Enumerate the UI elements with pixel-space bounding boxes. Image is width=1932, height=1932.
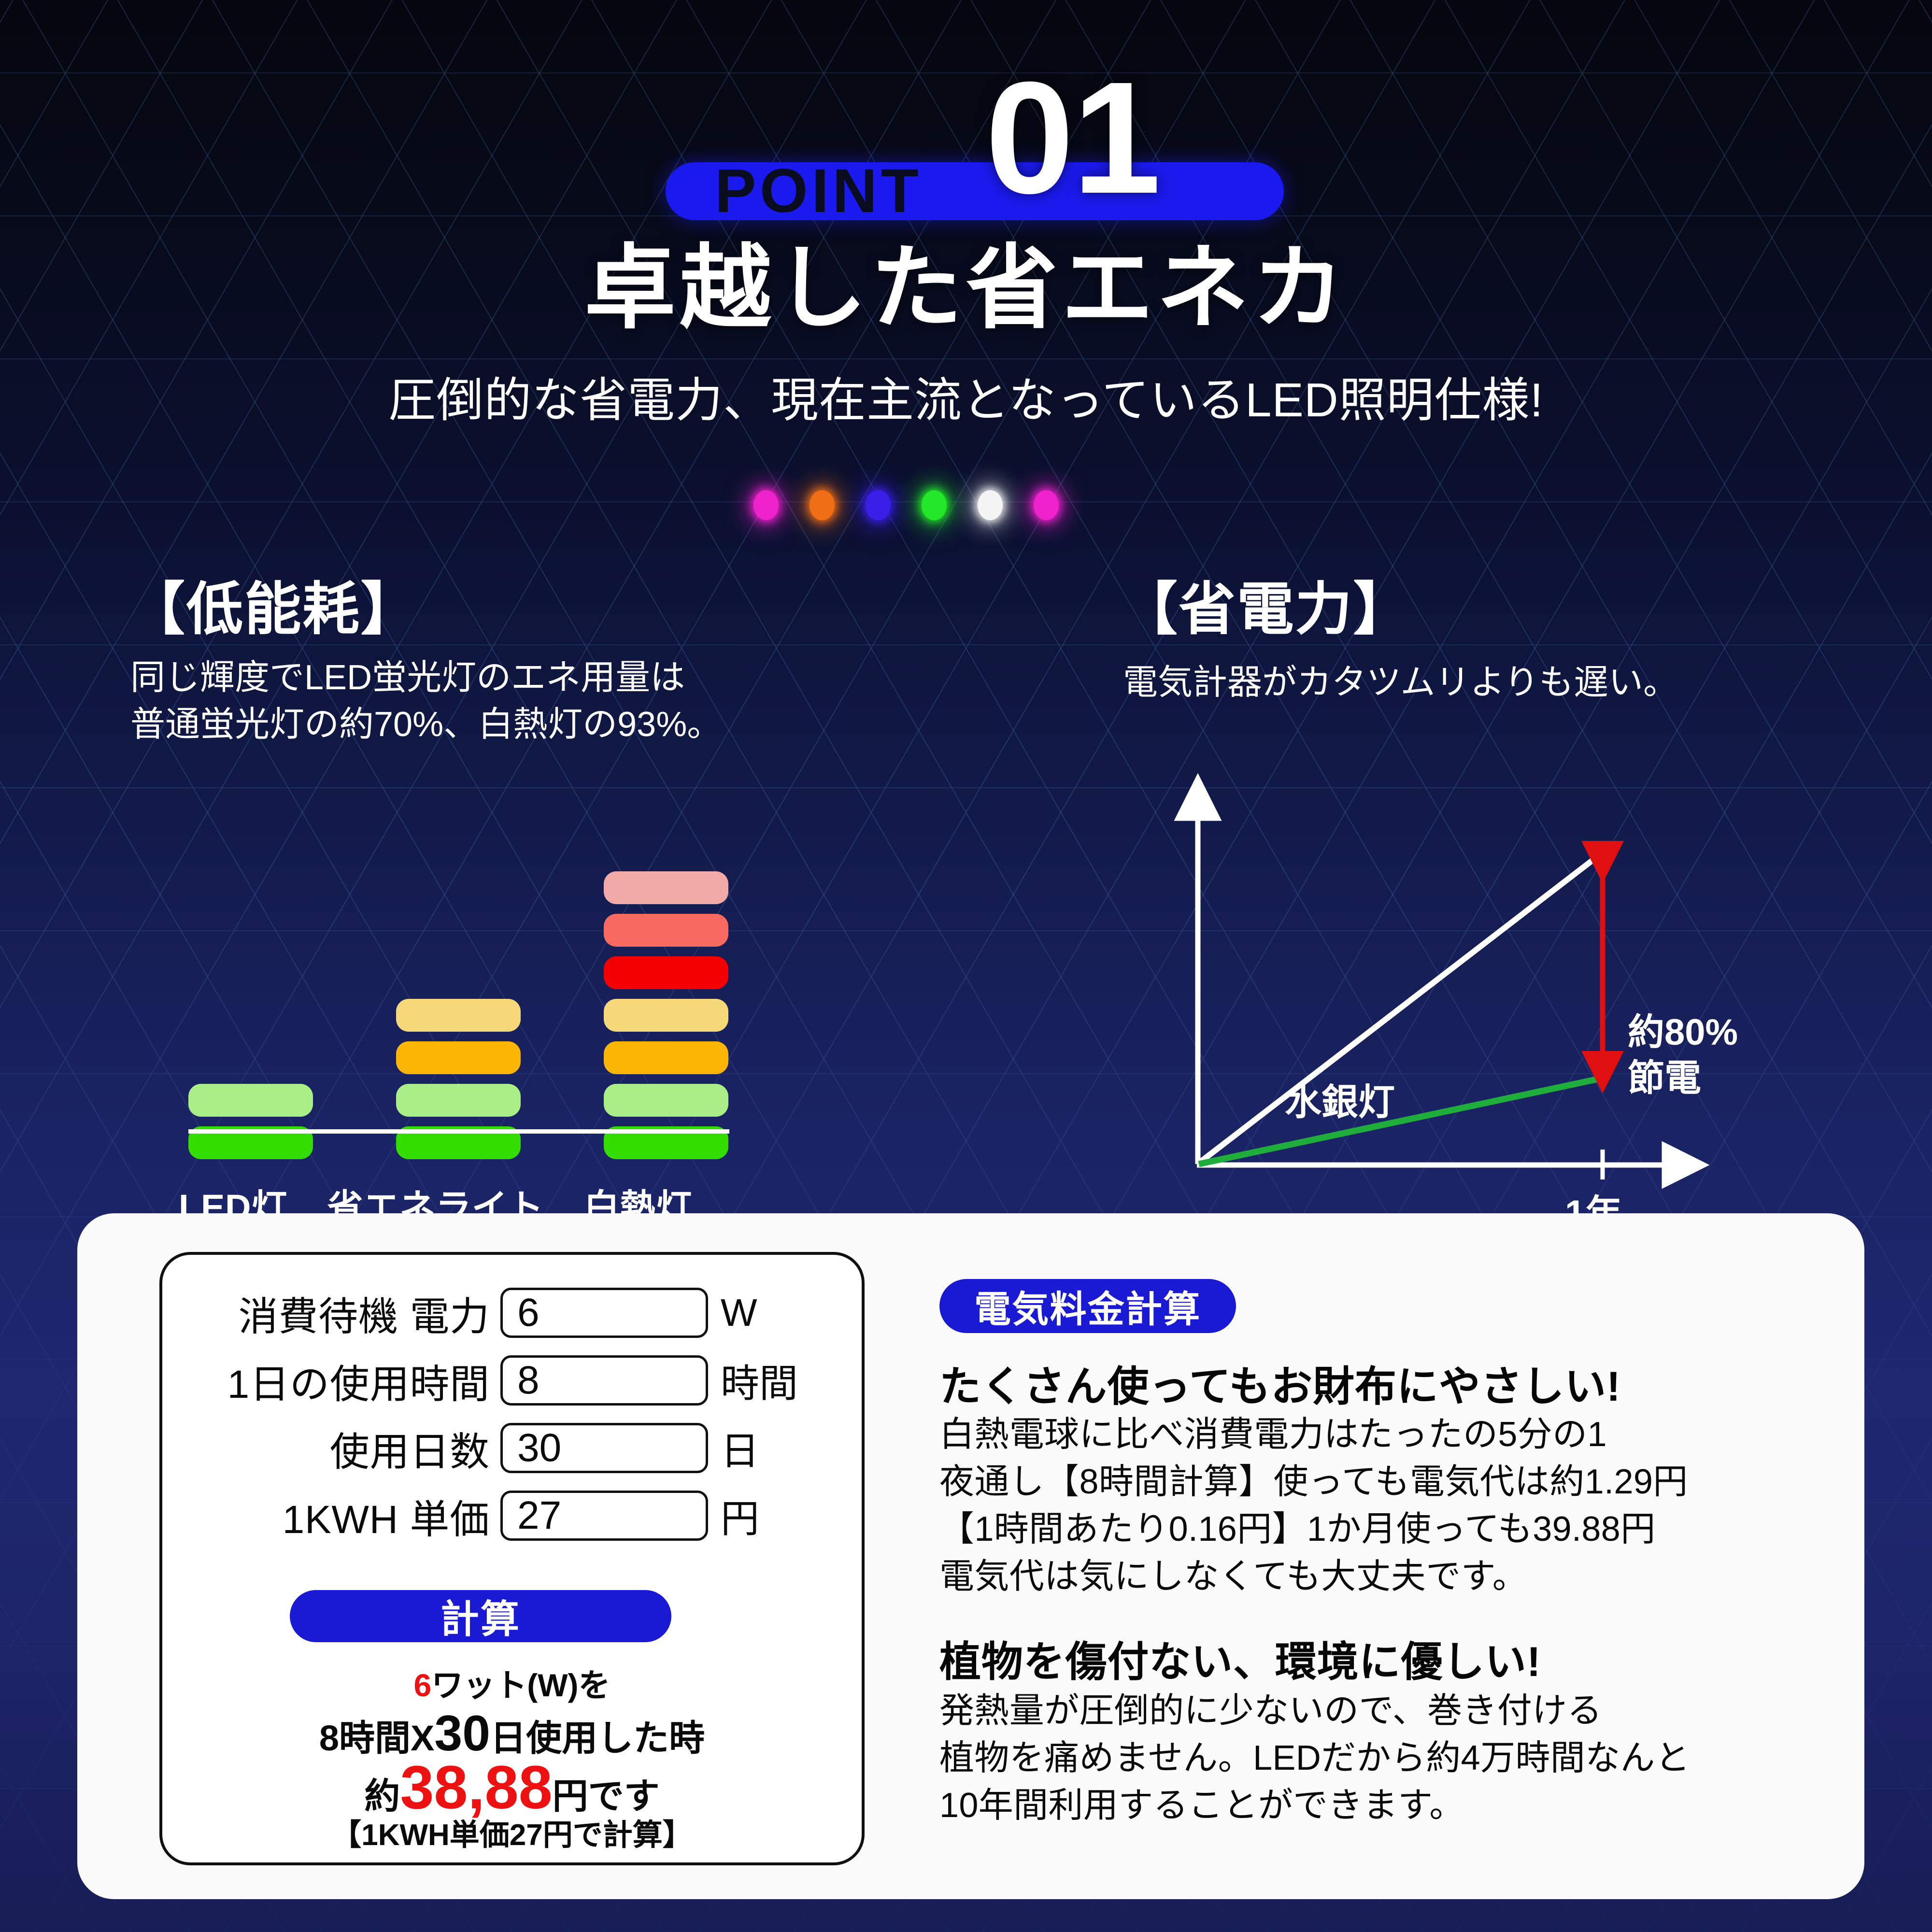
calculator-row-label: 使用日数 — [162, 1420, 500, 1477]
calculator-input-2[interactable]: 30 — [500, 1423, 708, 1473]
calculator-row-label: 消費待機 電力 — [162, 1284, 500, 1342]
bar-chart-baseline — [188, 1129, 729, 1134]
page-title: 卓越した省エネカ — [0, 241, 1932, 337]
led-dot-green — [922, 490, 947, 520]
calculator-row-unit: 日 — [708, 1420, 759, 1476]
info-panel-badge: 電気料金計算 — [939, 1279, 1236, 1333]
calculator-row-label: 1KWH 単価 — [162, 1487, 500, 1545]
led-dot-magenta — [753, 490, 779, 520]
result-watts-value: 6 — [414, 1667, 432, 1703]
info-body-1-line-2: 夜通し【8時間計算】使っても電気代は約1.29円 — [939, 1458, 1688, 1506]
info-body-2-line-1: 発熱量が圧倒的に少ないので、巻き付ける — [939, 1687, 1602, 1735]
left-section-heading: 【低能耗】 — [128, 563, 419, 645]
bar-segment — [604, 914, 728, 947]
calculate-button[interactable]: 計算 — [290, 1590, 671, 1642]
result-line-4-note: 【1KWH単価27円で計算】 — [159, 1810, 865, 1854]
info-heading-2: 植物を傷付ない、環境に優しい! — [939, 1628, 1541, 1688]
led-dot-orange — [810, 490, 835, 520]
calculator-row-label: 1日の使用時間 — [162, 1352, 500, 1409]
calculator-input-1[interactable]: 8 — [500, 1355, 708, 1406]
right-section-body-line1: 電気計器がカタツムリよりも遅い。 — [1123, 659, 1678, 706]
info-body-2-line-2: 植物を痛めません。LEDだから約4万時間なんと — [939, 1734, 1690, 1783]
calculator-row-2: 使用日数30日 — [162, 1419, 867, 1477]
bar-segment — [396, 1041, 521, 1074]
calculator-row-unit: 時間 — [708, 1352, 798, 1408]
bar-segment — [396, 1084, 521, 1117]
left-section-body-line1: 同じ輝度でLED蛍光灯のエネ用量は — [130, 654, 685, 701]
bar-column-1 — [396, 999, 521, 1159]
mercury-lamp-label: 水銀灯 — [1285, 1072, 1395, 1125]
bar-segment — [604, 1084, 728, 1117]
calculator-input-0[interactable]: 6 — [500, 1288, 708, 1338]
result-line-1: 6ワット(W)を — [159, 1660, 865, 1706]
info-body-1-line-1: 白熱電球に比べ消費電力はたったの5分の1 — [939, 1410, 1607, 1459]
info-body-1-line-4: 電気代は気にしなくても大丈夫です。 — [939, 1552, 1527, 1601]
led-dot-white — [978, 490, 1003, 520]
calculator-row-unit: 円 — [708, 1488, 759, 1544]
energy-bar-chart — [188, 782, 729, 1159]
led-dot-magenta2 — [1034, 490, 1059, 520]
savings-percent-label: 約80% — [1628, 1002, 1738, 1055]
bar-segment — [396, 999, 521, 1032]
led-lamp-line — [1199, 1078, 1603, 1164]
bar-segment — [188, 1084, 313, 1117]
calculator-row-unit: W — [708, 1291, 757, 1335]
bar-segment — [604, 1041, 728, 1074]
result-watts-suffix: ワット(W)を — [431, 1667, 610, 1703]
info-heading-1: たくさん使ってもお財布にやさしい! — [939, 1352, 1621, 1413]
right-section-heading: 【省電力】 — [1121, 563, 1411, 645]
calculator-row-3: 1KWH 単価27円 — [162, 1487, 867, 1545]
bar-segment — [604, 871, 728, 904]
savings-word-label: 節電 — [1628, 1048, 1701, 1101]
line-chart-svg — [1140, 763, 1855, 1217]
led-color-dots — [753, 490, 1059, 520]
bar-segment — [604, 956, 728, 989]
bar-segment — [604, 999, 728, 1032]
page-subtitle: 圧倒的な省電力、現在主流となっているLED照明仕様! — [0, 374, 1932, 426]
bar-column-0 — [188, 1084, 313, 1159]
left-section-body-line2: 普通蛍光灯の約70%、白熱灯の93%。 — [130, 701, 722, 748]
power-consumption-line-chart: 水銀灯 LED灯 約80% 節電 1年 — [1140, 763, 1855, 1217]
mercury-lamp-line — [1199, 852, 1603, 1163]
bar-column-2 — [604, 871, 728, 1159]
info-body-2-line-3: 10年間利用することができます。 — [939, 1781, 1464, 1830]
calculator-row-1: 1日の使用時間8時間 — [162, 1351, 867, 1409]
led-dot-blue — [866, 490, 891, 520]
calculator-input-3[interactable]: 27 — [500, 1491, 708, 1541]
point-badge-row: POINT 01 — [0, 29, 1932, 188]
info-body-1-line-3: 【1時間あたり0.16円】1か月使っても39.88円 — [939, 1505, 1656, 1554]
point-label: POINT — [715, 160, 923, 222]
calculator-row-0: 消費待機 電力6W — [162, 1284, 867, 1342]
point-number: 01 — [985, 58, 1159, 217]
